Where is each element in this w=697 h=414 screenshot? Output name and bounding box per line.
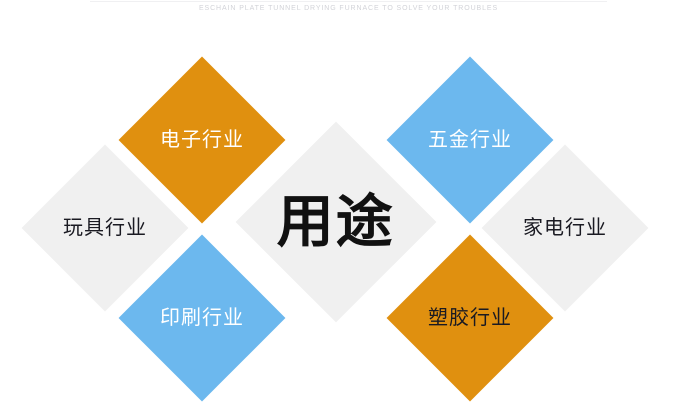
banner-divider <box>90 1 607 2</box>
diamond-label-hardware: 五金行业 <box>428 130 512 150</box>
banner-tagline: ESCHAIN PLATE TUNNEL DRYING FURNACE TO S… <box>0 4 697 14</box>
diamond-label-printing: 印刷行业 <box>160 308 244 328</box>
diamond-label-center-usage: 用途 <box>277 194 395 251</box>
banner: ESCHAIN PLATE TUNNEL DRYING FURNACE TO S… <box>0 0 697 22</box>
diamond-label-electronics: 电子行业 <box>160 130 244 150</box>
diamond-label-plastics: 塑胶行业 <box>428 308 512 328</box>
diamond-label-toys: 玩具行业 <box>63 218 147 238</box>
infographic-canvas: ESCHAIN PLATE TUNNEL DRYING FURNACE TO S… <box>0 0 697 414</box>
diamond-label-home-appliance: 家电行业 <box>523 218 607 238</box>
